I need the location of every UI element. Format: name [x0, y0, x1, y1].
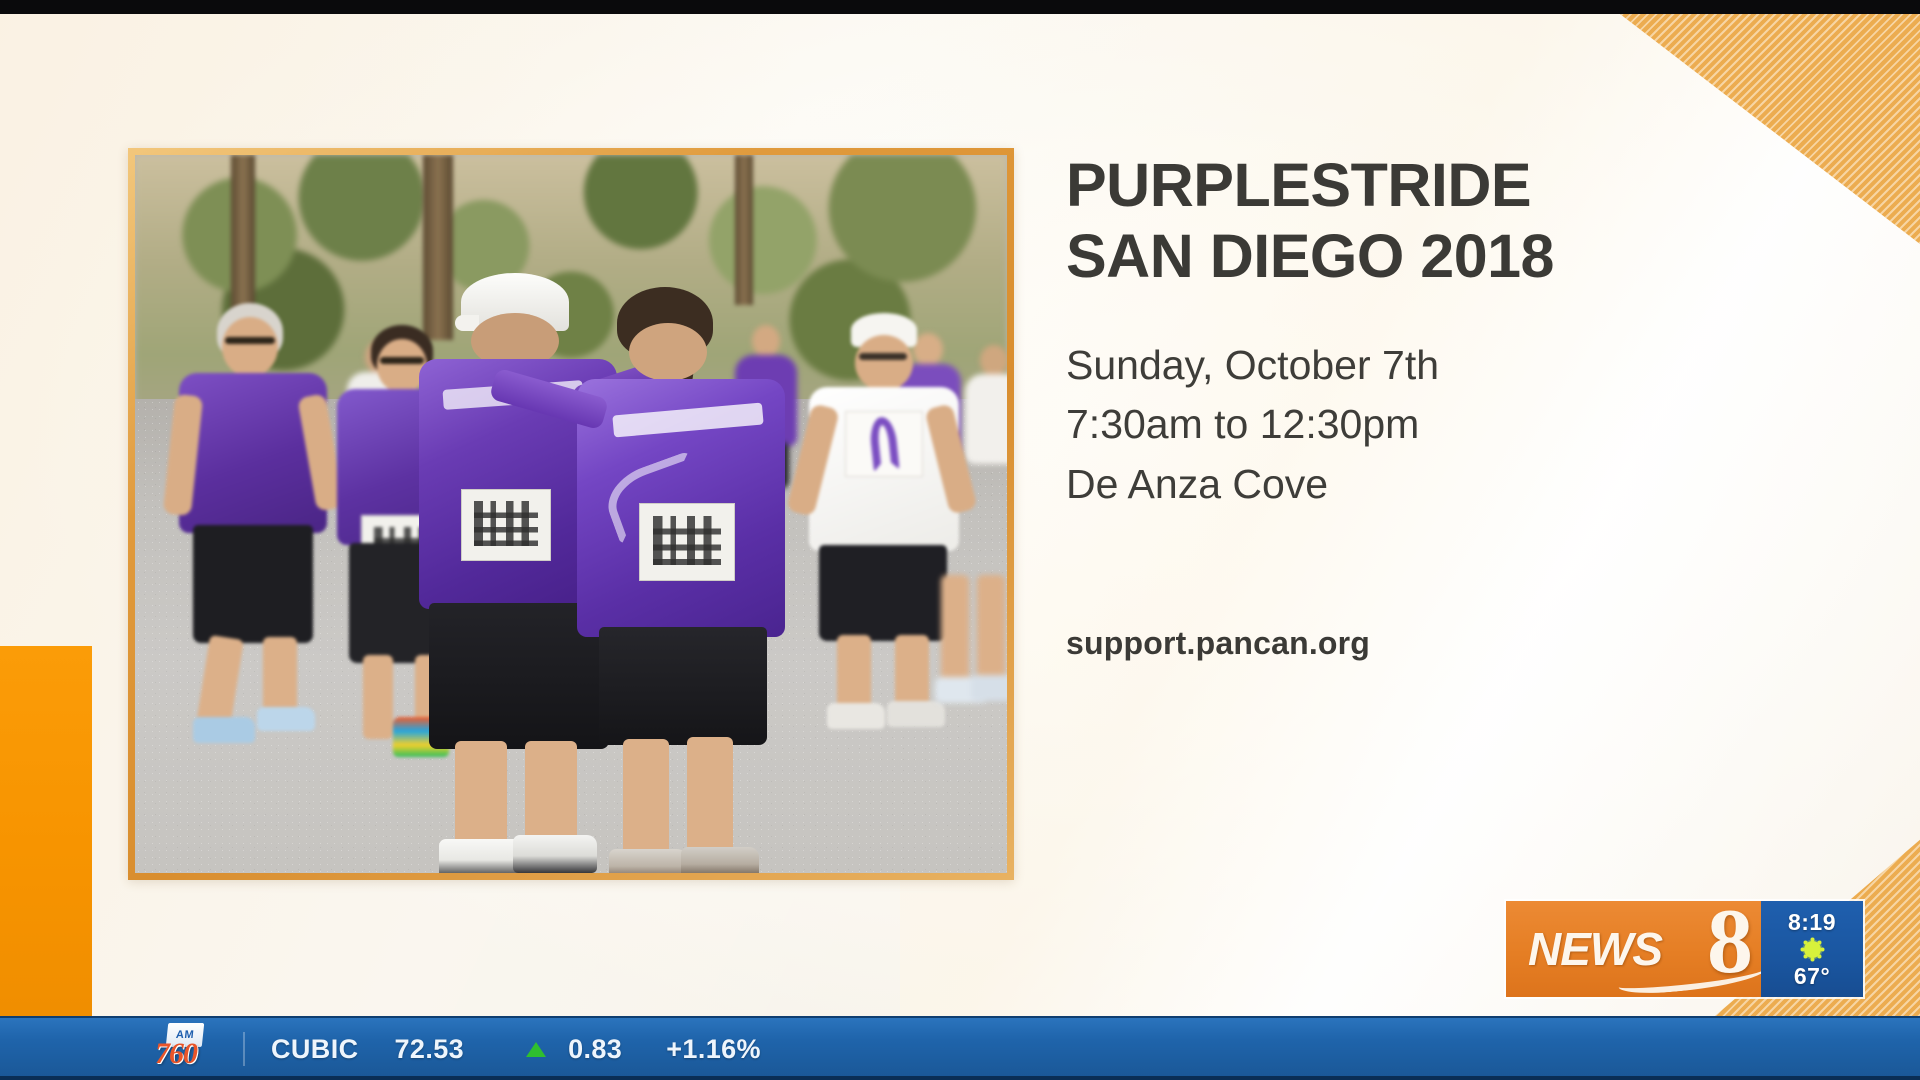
- photo-crowd-walker: [935, 455, 1007, 755]
- photo-race-bib: [639, 503, 735, 581]
- ticker-symbol: CUBIC: [271, 1034, 359, 1065]
- photo-walker-woman-main: [577, 287, 797, 867]
- left-orange-accent-block: [0, 646, 92, 1016]
- current-time: 8:19: [1788, 909, 1836, 936]
- event-time: 7:30am to 12:30pm: [1066, 395, 1826, 455]
- ticker-price: 72.53: [395, 1034, 465, 1065]
- event-details-list: Sunday, October 7th 7:30am to 12:30pm De…: [1066, 336, 1826, 516]
- sun-icon: [1804, 941, 1821, 958]
- top-letterbox-bar: [0, 0, 1920, 14]
- event-website-url: support.pancan.org: [1066, 625, 1826, 662]
- photo-race-bib: [461, 489, 551, 561]
- headline-line-1: PURPLESTRIDE: [1066, 150, 1826, 221]
- am760-frequency-label: 760: [155, 1039, 197, 1069]
- bottom-letterbox-bar: [0, 1076, 1920, 1080]
- event-photo: [135, 155, 1007, 873]
- ticker-change: 0.83: [568, 1034, 622, 1065]
- weather-widget: 8:19 67°: [1761, 901, 1863, 997]
- ticker-quote-row: CUBIC 72.53 0.83 +1.16%: [271, 1034, 761, 1065]
- network-logo-bug: NEWS 8 8:19 67°: [1506, 901, 1863, 997]
- event-info-panel: PURPLESTRIDE SAN DIEGO 2018 Sunday, Octo…: [1066, 150, 1826, 662]
- ticker-divider: [243, 1032, 245, 1066]
- event-location: De Anza Cove: [1066, 455, 1826, 515]
- news8-logo: NEWS 8: [1506, 901, 1761, 997]
- page-title: PURPLESTRIDE SAN DIEGO 2018: [1066, 150, 1826, 292]
- photo-walker-left: [175, 303, 331, 743]
- event-date: Sunday, October 7th: [1066, 336, 1826, 396]
- broadcast-screen: PURPLESTRIDE SAN DIEGO 2018 Sunday, Octo…: [0, 0, 1920, 1080]
- stock-ticker-bar: AM 760 CUBIC 72.53 0.83 +1.16%: [0, 1016, 1920, 1080]
- ticker-percent-change: +1.16%: [666, 1034, 761, 1065]
- up-arrow-icon: [526, 1042, 546, 1057]
- headline-line-2: SAN DIEGO 2018: [1066, 221, 1826, 292]
- current-temperature: 67°: [1794, 963, 1830, 990]
- photo-tree-trunk: [735, 155, 753, 305]
- event-photo-frame: [128, 148, 1014, 880]
- am760-logo: AM 760: [155, 1023, 213, 1075]
